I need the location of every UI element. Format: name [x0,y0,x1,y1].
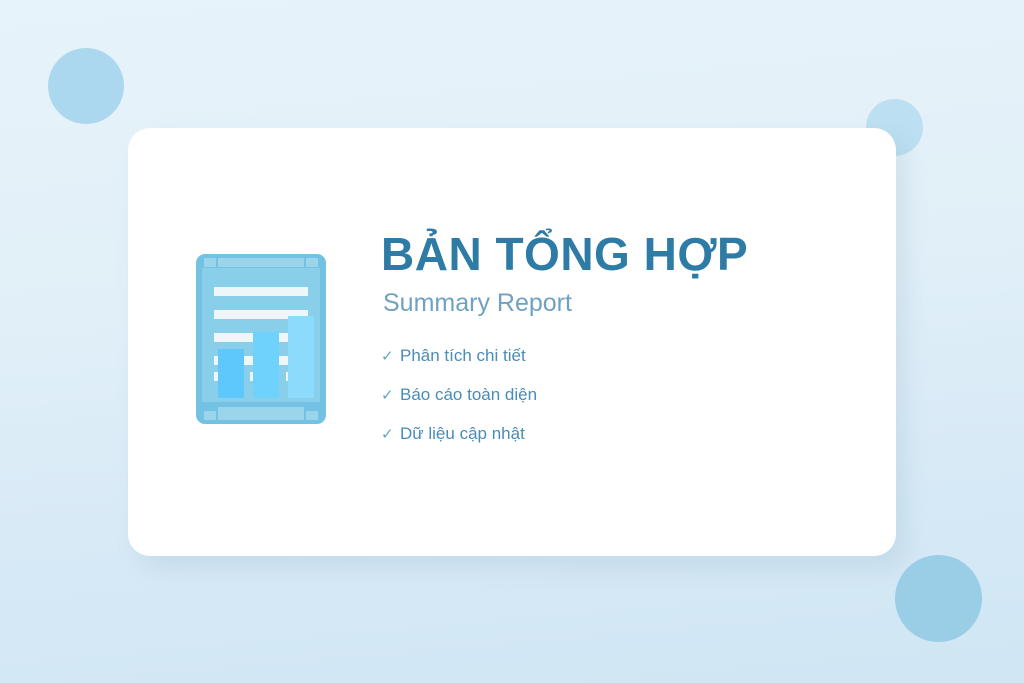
page-subtitle: Summary Report [383,289,748,318]
document-notch-top-right [306,258,318,267]
list-item: ✓ Phân tích chi tiết [381,346,748,366]
document-chart-bar [253,332,279,398]
summary-report-card: BẢN TỔNG HỢP Summary Report ✓ Phân tích … [128,128,896,556]
document-top-strip [218,258,304,267]
text-block: BẢN TỔNG HỢP Summary Report ✓ Phân tích … [381,230,748,448]
document-notch-top-left [204,258,216,267]
list-item-label: Phân tích chi tiết [400,346,526,366]
list-item: ✓ Báo cáo toàn diện [381,385,748,405]
decorative-circle-bottom-right [895,555,982,642]
list-item-label: Dữ liệu cập nhật [400,424,525,444]
card-content: BẢN TỔNG HỢP Summary Report ✓ Phân tích … [196,230,748,448]
document-bottom-strip [218,407,304,420]
decorative-circle-top-left [48,48,124,124]
list-item: ✓ Dữ liệu cập nhật [381,424,748,444]
poster-canvas: BẢN TỔNG HỢP Summary Report ✓ Phân tích … [0,0,1024,683]
list-item-label: Báo cáo toàn diện [400,385,537,405]
check-icon: ✓ [381,347,400,365]
check-icon: ✓ [381,425,400,443]
page-title: BẢN TỔNG HỢP [381,230,748,279]
check-icon: ✓ [381,386,400,404]
feature-list: ✓ Phân tích chi tiết ✓ Báo cáo toàn diện… [381,346,748,444]
document-chart-bar [218,349,244,398]
summary-report-document-icon [196,254,326,424]
document-text-line [214,287,308,296]
document-notch-bottom-left [204,411,216,420]
document-notch-bottom-right [306,411,318,420]
document-chart-bar [288,316,314,398]
